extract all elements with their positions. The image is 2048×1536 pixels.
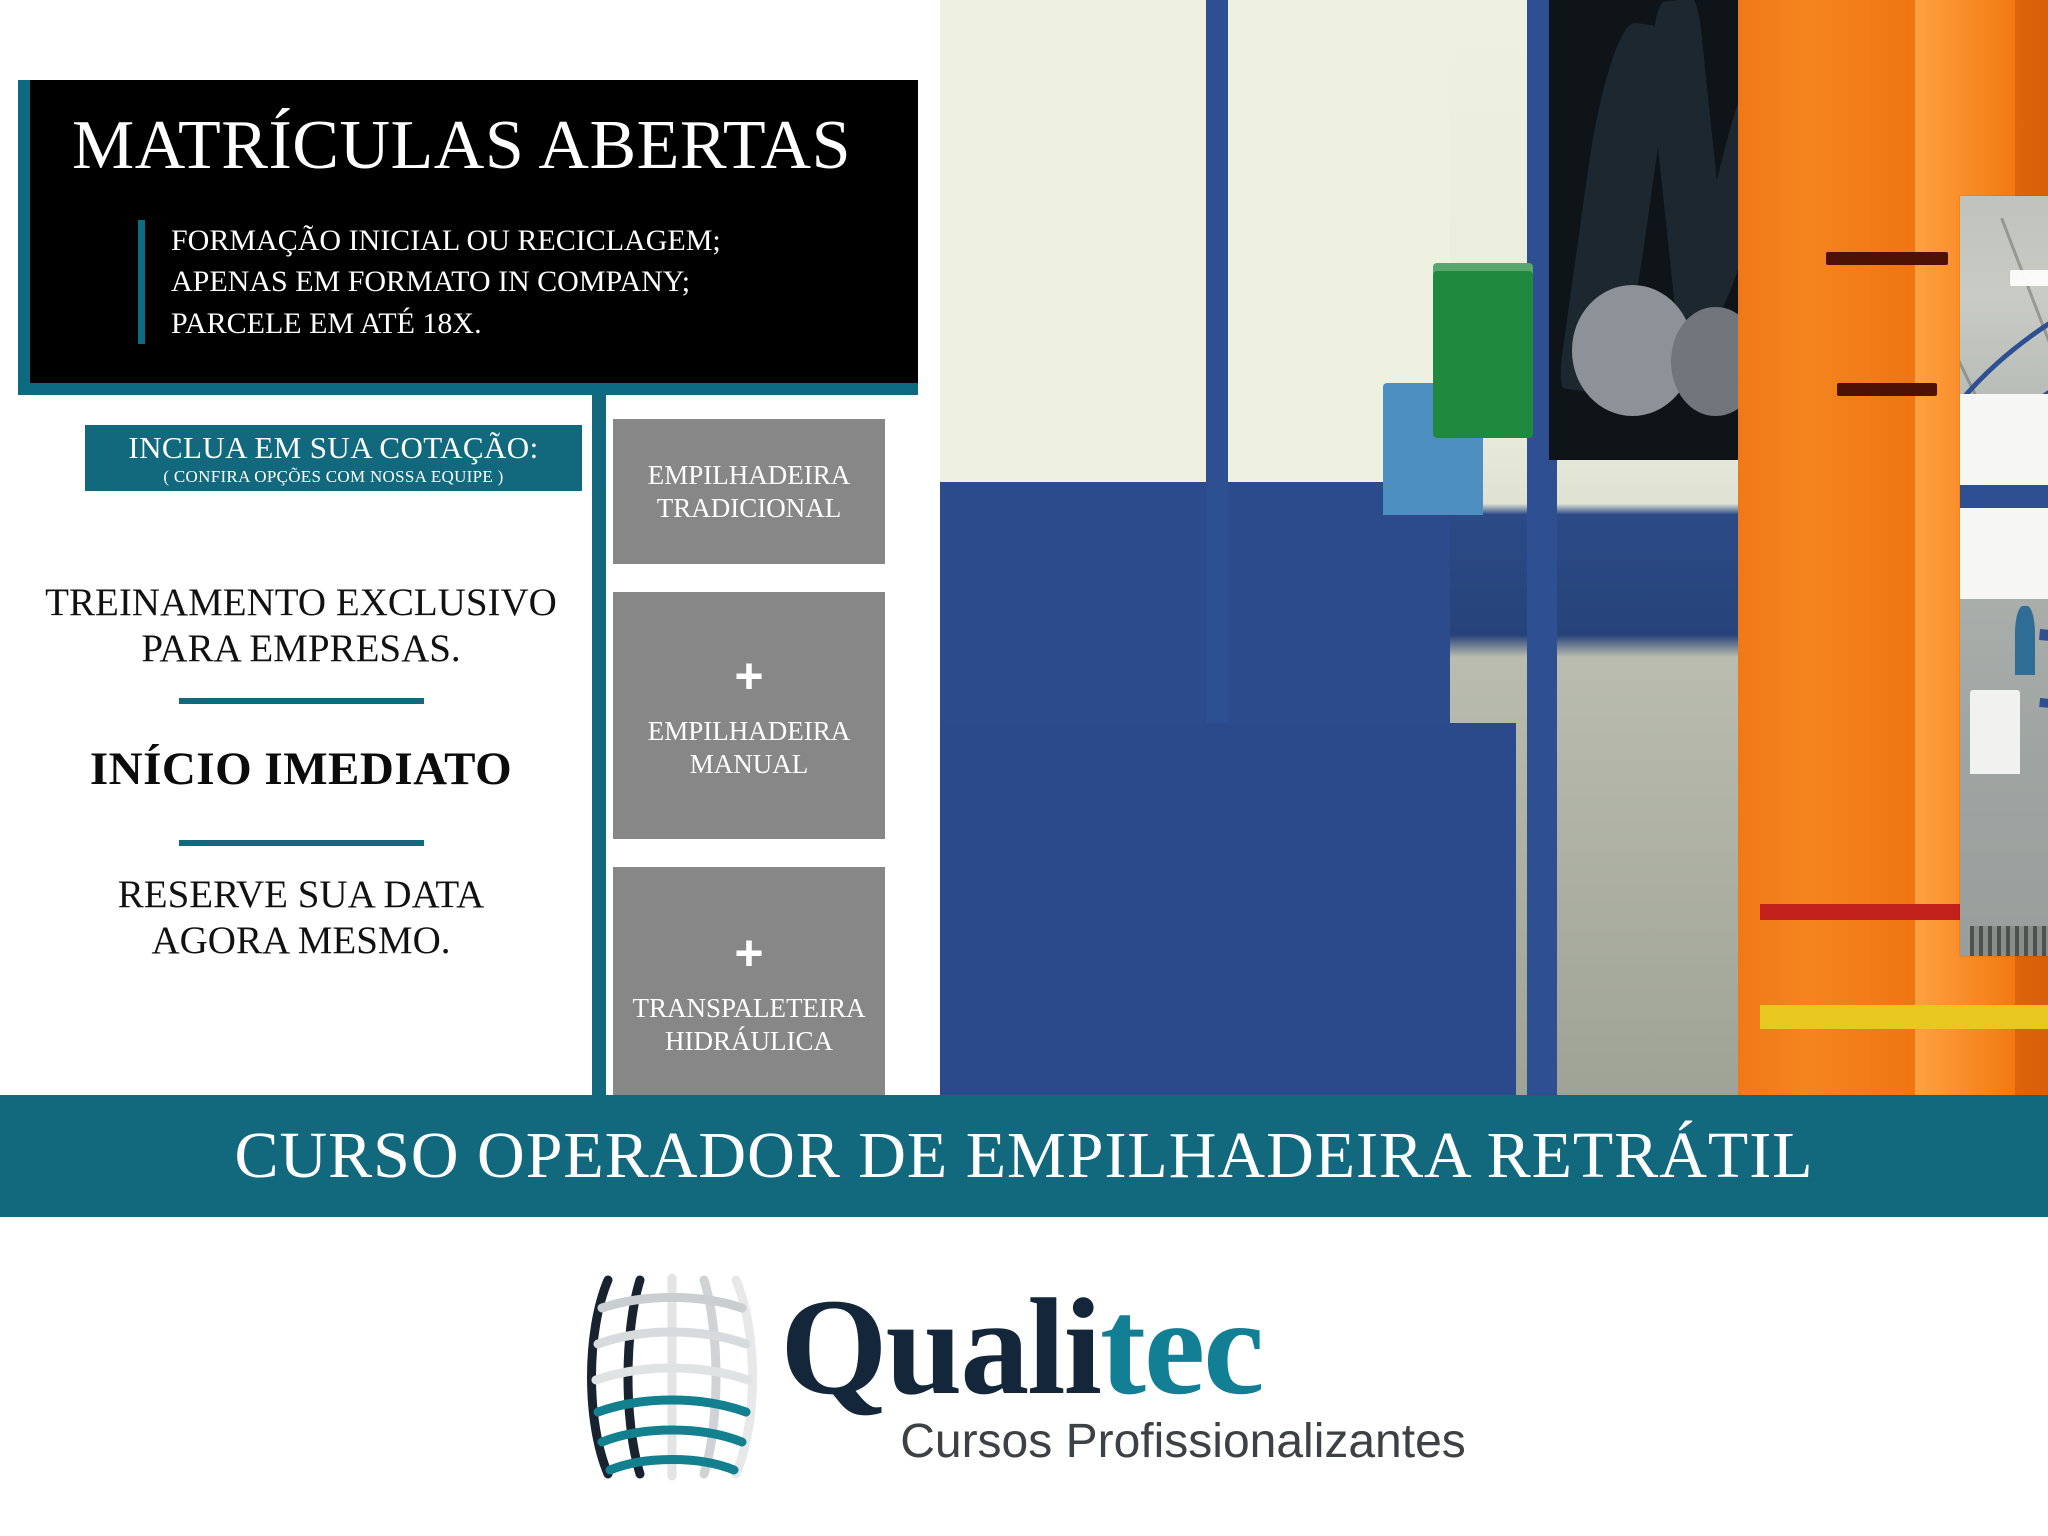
equipment-box-2-line-1: EMPILHADEIRA xyxy=(648,715,851,748)
course-title-banner: CURSO OPERADOR DE EMPILHADEIRA RETRÁTIL xyxy=(0,1095,2048,1217)
wall-band-1 xyxy=(1960,485,2048,508)
equipment-box-1-line-1: EMPILHADEIRA xyxy=(648,459,851,492)
plus-icon-1: + xyxy=(734,651,763,701)
reserve-line-2: AGORA MESMO. xyxy=(20,918,582,964)
equipment-box-manual: + EMPILHADEIRA MANUAL xyxy=(613,592,885,839)
headline-box: MATRÍCULAS ABERTAS FORMAÇÃO INICIAL OU R… xyxy=(18,80,918,395)
background-photo xyxy=(940,0,2048,1095)
divider-bottom xyxy=(179,840,424,846)
headline-bullet-1: FORMAÇÃO INICIAL OU RECICLAGEM; xyxy=(171,220,721,261)
headline-bullet-2: APENAS EM FORMATO IN COMPANY; xyxy=(171,261,721,302)
logo-word-tec: tec xyxy=(1100,1270,1262,1423)
equipment-box-3-line-1: TRANSPALETEIRA xyxy=(632,992,865,1025)
bg-yellow-stripe xyxy=(1760,1005,2048,1029)
logo-word-row: Qualitec xyxy=(780,1284,1262,1411)
logo-word-quali: Quali xyxy=(780,1270,1100,1423)
person-figure xyxy=(2015,606,2035,674)
divider-top xyxy=(179,698,424,704)
equipment-box-3-line-2: HIDRÁULICA xyxy=(665,1025,833,1058)
headline-bullets: FORMAÇÃO INICIAL OU RECICLAGEM; APENAS E… xyxy=(138,220,721,344)
equipment-box-2-line-2: MANUAL xyxy=(690,748,809,781)
plus-icon-2: + xyxy=(734,928,763,978)
quote-banner-subtitle: ( CONFIRA OPÇÕES COM NOSSA EQUIPE ) xyxy=(163,467,503,487)
bg-lower-blue-wall xyxy=(940,723,1516,1095)
course-title: CURSO OPERADOR DE EMPILHADEIRA RETRÁTIL xyxy=(234,1118,1813,1194)
vertical-teal-spine xyxy=(592,395,606,1120)
equipment-box-1-line-2: TRADICIONAL xyxy=(657,492,841,525)
logo-tagline: Cursos Profissionalizantes xyxy=(900,1414,1466,1469)
bg-mast-slot-1 xyxy=(1826,252,1948,265)
qualitec-wordmark: Qualitec Cursos Profissionalizantes xyxy=(780,1284,1466,1470)
floor-grate xyxy=(1970,926,2048,956)
quote-banner-title: INCLUA EM SUA COTAÇÃO: xyxy=(128,430,538,466)
left-column: TREINAMENTO EXCLUSIVO PARA EMPRESAS. INÍ… xyxy=(20,580,582,964)
page-title: MATRÍCULAS ABERTAS xyxy=(72,106,851,186)
reserve-line-1: RESERVE SUA DATA xyxy=(20,872,582,918)
poster-root: MATRÍCULAS ABERTAS FORMAÇÃO INICIAL OU R… xyxy=(0,0,2048,1536)
headline-bullet-3: PARCELE EM ATÉ 18X. xyxy=(171,303,721,344)
bg-green-bin xyxy=(1433,263,1533,438)
exclusive-training-line-2: PARA EMPRESAS. xyxy=(20,626,582,672)
photo-area xyxy=(940,0,2048,1095)
qualitec-web-icon xyxy=(582,1272,762,1482)
equipment-box-traditional: EMPILHADEIRA TRADICIONAL xyxy=(613,419,885,564)
immediate-start-highlight: INÍCIO IMEDIATO xyxy=(20,742,582,796)
bg-mast-slot-2 xyxy=(1837,383,1937,396)
inset-photo xyxy=(1960,196,2048,956)
plastic-chair xyxy=(1970,690,2020,774)
logo-zone: Qualitec Cursos Profissionalizantes xyxy=(0,1217,2048,1536)
equipment-box-pallet-truck: + TRANSPALETEIRA HIDRÁULICA xyxy=(613,867,885,1119)
exclusive-training-line-1: TREINAMENTO EXCLUSIVO xyxy=(20,580,582,626)
quote-banner: INCLUA EM SUA COTAÇÃO: ( CONFIRA OPÇÕES … xyxy=(85,425,582,491)
